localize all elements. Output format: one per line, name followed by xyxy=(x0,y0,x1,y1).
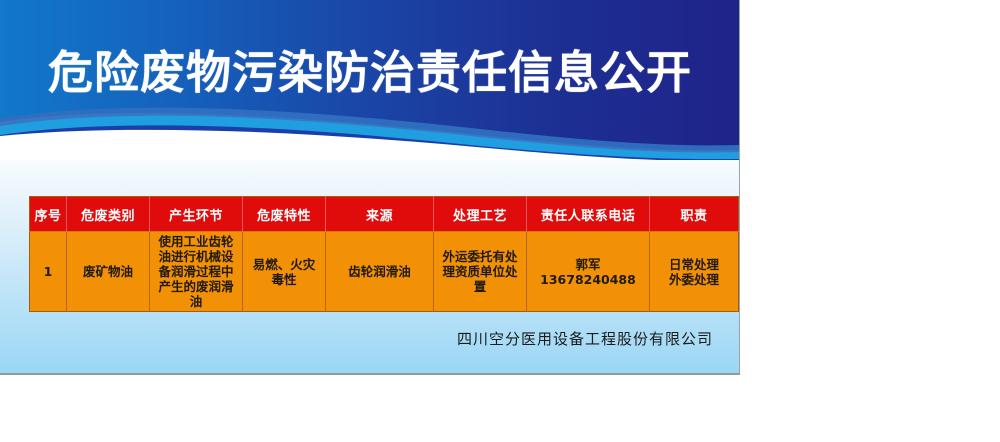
cell-source: 齿轮润滑油 xyxy=(326,232,434,312)
hazardous-waste-table: 序号 危废类别 产生环节 危废特性 来源 处理工艺 责任人联系电话 职责 1 废… xyxy=(29,196,739,312)
column-header-process: 处理工艺 xyxy=(434,197,527,232)
banner-header: 危险废物污染防治责任信息公开 xyxy=(0,0,740,160)
column-header-stage: 产生环节 xyxy=(150,197,243,232)
column-header-category: 危废类别 xyxy=(67,197,150,232)
table-header-row: 序号 危废类别 产生环节 危废特性 来源 处理工艺 责任人联系电话 职责 xyxy=(30,197,739,232)
page-title: 危险废物污染防治责任信息公开 xyxy=(0,48,740,98)
company-name: 四川空分医用设备工程股份有限公司 xyxy=(0,328,713,349)
column-header-characteristic: 危废特性 xyxy=(243,197,326,232)
cell-contact: 郭军13678240488 xyxy=(527,232,650,312)
cell-index: 1 xyxy=(30,232,67,312)
column-header-contact: 责任人联系电话 xyxy=(527,197,650,232)
cell-category: 废矿物油 xyxy=(67,232,150,312)
cell-process: 外运委托有处理资质单位处置 xyxy=(434,232,527,312)
column-header-source: 来源 xyxy=(326,197,434,232)
cell-characteristic: 易燃、火灾毒性 xyxy=(243,232,326,312)
column-header-duty: 职责 xyxy=(650,197,739,232)
contact-name: 郭军 xyxy=(575,257,600,272)
cell-duty: 日常处理 外委处理 xyxy=(650,232,739,312)
column-header-index: 序号 xyxy=(30,197,67,232)
information-poster: 危险废物污染防治责任信息公开 序号 危废类别 产生环节 危废特性 来源 处理工艺… xyxy=(0,0,740,375)
cell-stage: 使用工业齿轮油进行机械设备润滑过程中产生的废润滑油 xyxy=(150,232,243,312)
table-row: 1 废矿物油 使用工业齿轮油进行机械设备润滑过程中产生的废润滑油 易燃、火灾毒性… xyxy=(30,232,739,312)
contact-phone: 13678240488 xyxy=(540,272,636,287)
banner-wave-lower xyxy=(0,128,740,160)
